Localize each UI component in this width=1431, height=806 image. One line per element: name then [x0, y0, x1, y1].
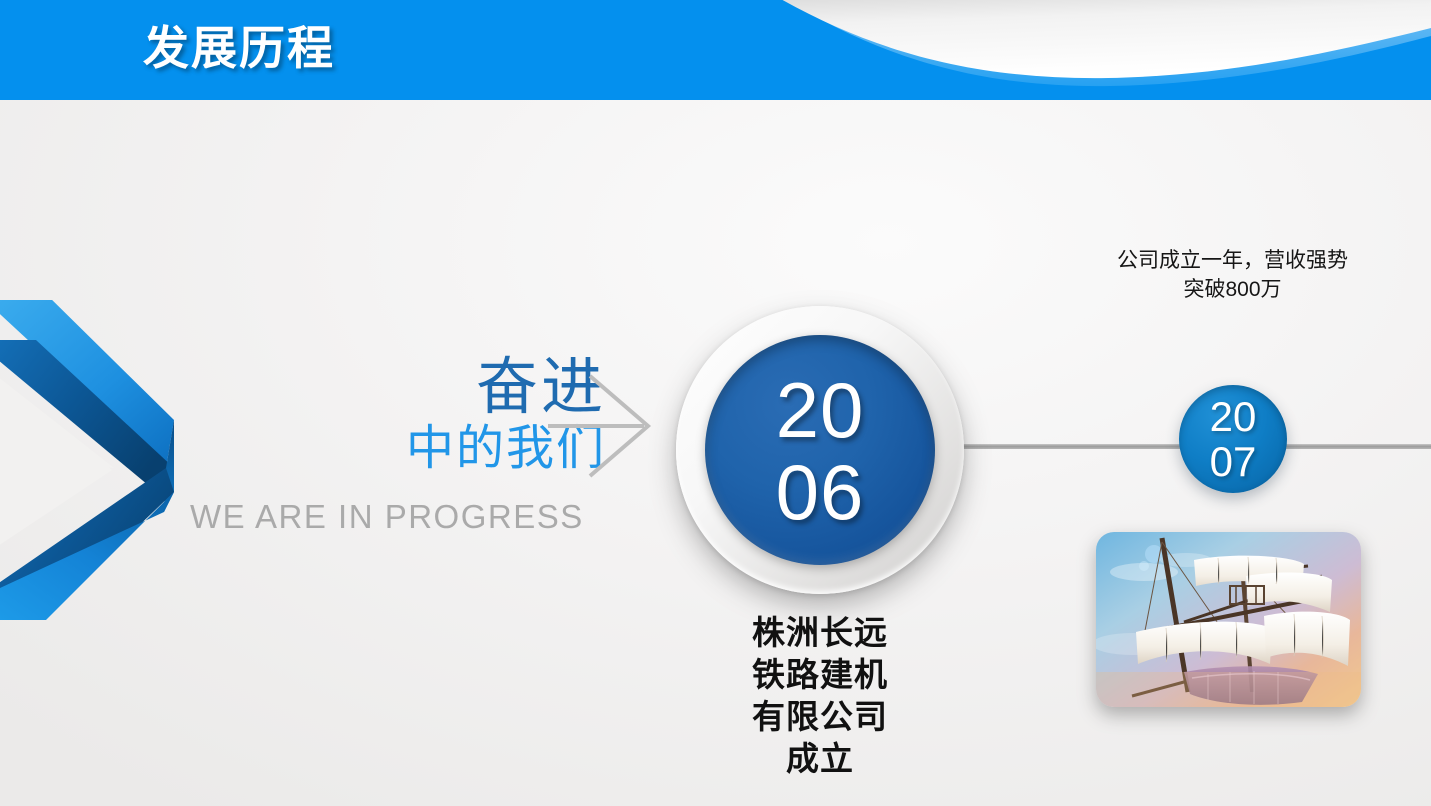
node-2006-disc: 20 06 [705, 335, 935, 565]
caption-line-4: 成立 [700, 738, 940, 780]
node-2007-disc: 20 07 [1179, 385, 1287, 493]
node-2007-note: 公司成立一年，营收强势 突破800万 [1095, 246, 1370, 304]
note-line-1: 公司成立一年，营收强势 [1095, 246, 1370, 275]
node-2007-year: 20 07 [1179, 394, 1287, 484]
node-2006-year-bottom: 06 [705, 451, 935, 533]
arrow-right-icon [548, 370, 658, 480]
slogan-line-2: 中的我们 [186, 420, 606, 478]
node-2006-caption: 株洲长远 铁路建机 有限公司 成立 [700, 612, 940, 780]
node-2006-year-top: 20 [705, 369, 935, 451]
slogan-line-1: 奋进 [186, 352, 606, 424]
slogan-block: 奋进 中的我们 [186, 352, 606, 478]
caption-line-3: 有限公司 [700, 696, 940, 738]
header-band: 发展历程 [0, 0, 1431, 100]
caption-line-2: 铁路建机 [700, 654, 940, 696]
slogan-subtitle: WE ARE IN PROGRESS [190, 498, 584, 536]
chevron-ribbon-icon [0, 300, 209, 620]
timeline-node-2006[interactable]: 20 06 [676, 306, 964, 594]
node-2007-year-top: 20 [1179, 394, 1287, 439]
slide-canvas: 发展历程 [0, 0, 1431, 806]
sailing-ship-photo [1096, 532, 1361, 707]
caption-line-1: 株洲长远 [700, 612, 940, 654]
node-2006-year: 20 06 [705, 369, 935, 533]
timeline-node-2007[interactable]: 20 07 [1179, 385, 1287, 493]
page-title: 发展历程 [143, 20, 335, 76]
note-line-2: 突破800万 [1095, 275, 1370, 304]
node-2007-year-bottom: 07 [1179, 439, 1287, 484]
